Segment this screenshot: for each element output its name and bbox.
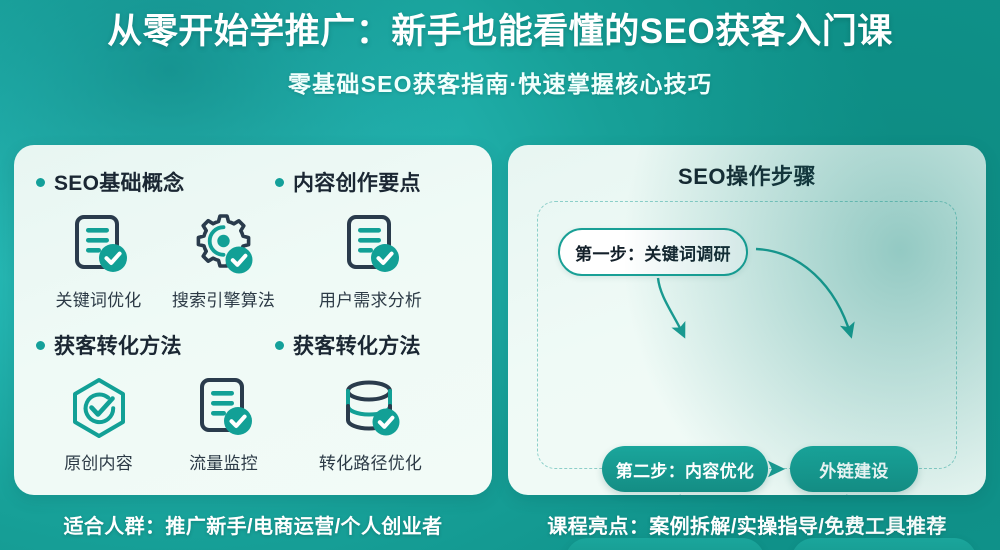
page-subtitle: 零基础SEO获客指南·快速掌握核心技巧 — [0, 65, 1000, 99]
feature-tile-label: 用户需求分析 — [319, 286, 422, 311]
flow-panel-title: SEO操作步骤 — [508, 159, 986, 191]
block-heading: SEO基础概念 — [14, 167, 253, 197]
feature-tile-label: 转化路径优化 — [319, 449, 422, 474]
feature-tile-user-need-analysis[interactable]: 用户需求分析 — [311, 207, 430, 311]
feature-tile-label: 搜索引擎算法 — [172, 286, 275, 311]
bullet-dot-icon — [36, 341, 45, 350]
shield-check-icon — [67, 370, 131, 448]
database-check-icon — [339, 370, 403, 448]
poster-header: 从零开始学推广：新手也能看懂的SEO获客入门课 零基础SEO获客指南·快速掌握核… — [0, 12, 1000, 99]
document-check-icon — [193, 370, 255, 448]
flow-node-label: 第二步：内容优化 — [616, 457, 754, 482]
footer-highlights: 课程亮点：案例拆解/实操指导/免费工具推荐 — [508, 510, 986, 539]
feature-tiles-row-2: 原创内容 流量监控 — [14, 370, 492, 474]
feature-block-content-creation: 内容创作要点 — [253, 167, 492, 197]
feature-tile-label: 关键词优化 — [56, 286, 142, 311]
feature-tile-conversion-path-optimization[interactable]: 转化路径优化 — [311, 370, 430, 474]
flow-node-step-3[interactable]: 第三步：外链建设 — [565, 538, 765, 550]
feature-tile-label: 流量监控 — [189, 449, 258, 474]
document-check-icon — [340, 207, 402, 285]
feature-tile-label: 原创内容 — [64, 449, 133, 474]
feature-block-seo-basics: SEO基础概念 — [14, 167, 253, 197]
feature-block-conversion-methods-1: 获客转化方法 — [14, 330, 253, 360]
feature-tiles-row-1: 关键词优化 搜索引擎算法 — [14, 207, 492, 311]
feature-tile-original-content[interactable]: 原创内容 — [39, 370, 158, 474]
block-heading: 获客转化方法 — [253, 330, 492, 360]
flow-node-step-2[interactable]: 第二步：内容优化 — [602, 446, 768, 492]
bullet-dot-icon — [275, 178, 284, 187]
feature-block-conversion-methods-2: 获客转化方法 — [253, 330, 492, 360]
flow-node-label: 第一步：关键词调研 — [575, 240, 731, 265]
page-title: 从零开始学推广：新手也能看懂的SEO获客入门课 — [0, 12, 1000, 51]
footer-audience: 适合人群：推广新手/电商运营/个人创业者 — [14, 510, 492, 539]
poster-canvas: 从零开始学推广：新手也能看懂的SEO获客入门课 零基础SEO获客指南·快速掌握核… — [0, 0, 1000, 550]
flow-node-backlinks[interactable]: 外链建设 — [790, 446, 918, 492]
flow-node-label: 外链建设 — [819, 457, 888, 482]
flow-node-step-1[interactable]: 第一步：关键词调研 — [558, 228, 748, 276]
feature-tile-traffic-monitoring[interactable]: 流量监控 — [164, 370, 283, 474]
gear-check-icon — [191, 207, 257, 285]
bullet-dot-icon — [36, 178, 45, 187]
block-heading: 内容创作要点 — [253, 167, 492, 197]
block-title-text: SEO基础概念 — [54, 167, 184, 197]
block-title-text: 内容创作要点 — [293, 167, 421, 197]
block-title-text: 获客转化方法 — [293, 330, 421, 360]
flow-node-step-4[interactable]: 第四步：数据复盘 — [791, 538, 977, 550]
features-panel: SEO基础概念 内容创作要点 — [14, 145, 492, 495]
feature-tile-keyword-optimization[interactable]: 关键词优化 — [39, 207, 158, 311]
feature-tile-search-engine-algorithm[interactable]: 搜索引擎算法 — [164, 207, 283, 311]
bullet-dot-icon — [275, 341, 284, 350]
document-check-icon — [68, 207, 130, 285]
flow-panel: SEO操作步骤 第一步：关键词调研 第二步：内容优化 — [508, 145, 986, 495]
block-heading: 获客转化方法 — [14, 330, 253, 360]
block-title-text: 获客转化方法 — [54, 330, 182, 360]
